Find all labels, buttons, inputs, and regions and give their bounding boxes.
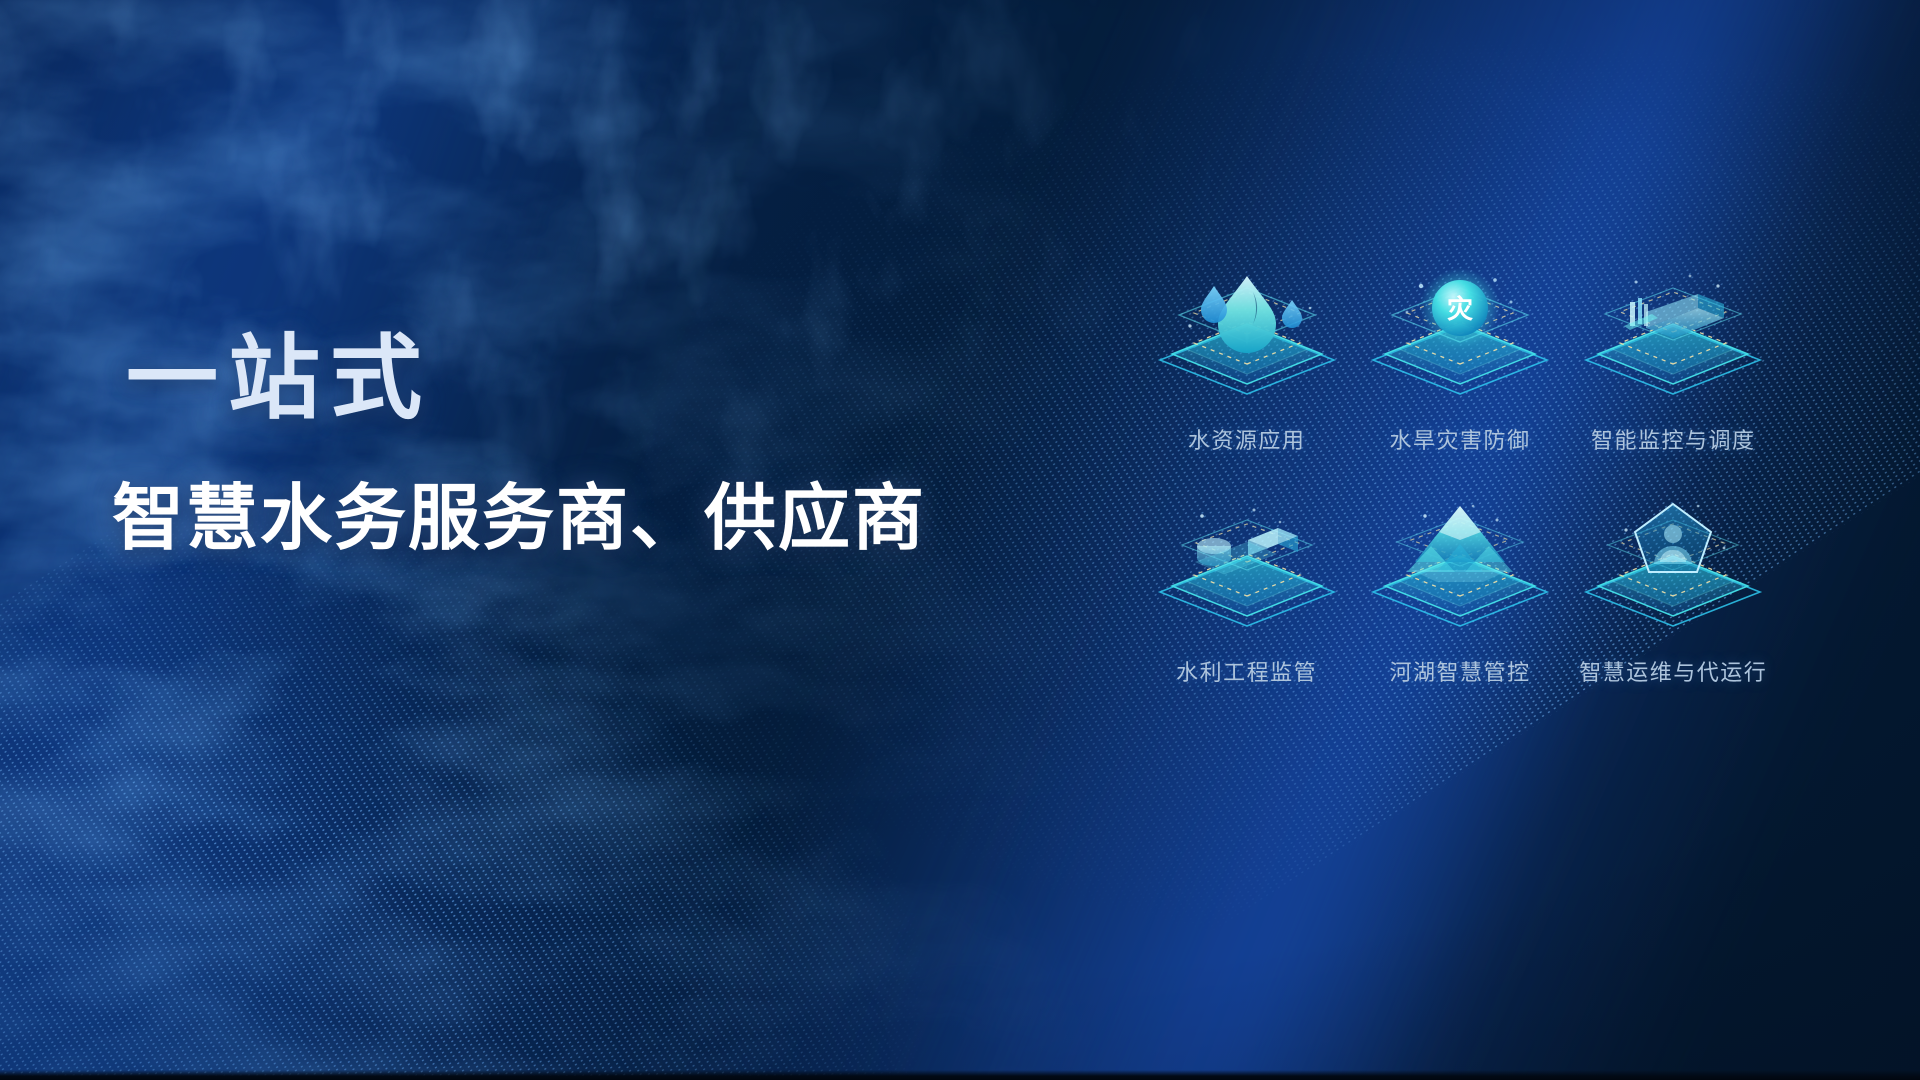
capability-item-smart-ops[interactable]: 智慧运维与代运行 — [1567, 500, 1780, 732]
capability-item-smart-monitoring[interactable]: 智能监控与调度 — [1567, 268, 1780, 500]
capability-label: 智慧运维与代运行 — [1579, 655, 1767, 687]
capability-label: 河湖智慧管控 — [1389, 655, 1530, 687]
capability-label: 水利工程监管 — [1176, 655, 1317, 687]
capability-item-hydro-supervision[interactable]: 水利工程监管 — [1140, 500, 1353, 732]
page-title: 一站式 — [126, 333, 432, 425]
disaster-badge-text: 灾 — [1447, 294, 1473, 324]
capability-label: 水资源应用 — [1188, 423, 1306, 455]
capability-item-water-resource[interactable]: 水资源应用 — [1140, 268, 1353, 500]
shield-ops-icon — [1578, 500, 1768, 652]
capability-label: 智能监控与调度 — [1591, 423, 1756, 455]
page-subtitle: 智慧水务服务商、供应商 — [112, 483, 926, 555]
hydro-facility-icon — [1152, 500, 1342, 652]
slide-canvas: 一站式 智慧水务服务商、供应商 — [0, 0, 1920, 1080]
capability-item-disaster-defense[interactable]: 灾 水旱灾害防御 — [1353, 268, 1566, 500]
capability-grid: 水资源应用 — [1140, 268, 1780, 732]
disaster-sphere-icon: 灾 — [1365, 268, 1555, 420]
bottom-edge-shade — [0, 1070, 1920, 1080]
river-mountain-icon — [1365, 500, 1555, 652]
capability-item-river-lake-control[interactable]: 河湖智慧管控 — [1353, 500, 1566, 732]
water-drop-icon — [1152, 268, 1342, 420]
capability-label: 水旱灾害防御 — [1389, 423, 1530, 455]
dam-control-icon — [1578, 268, 1768, 420]
